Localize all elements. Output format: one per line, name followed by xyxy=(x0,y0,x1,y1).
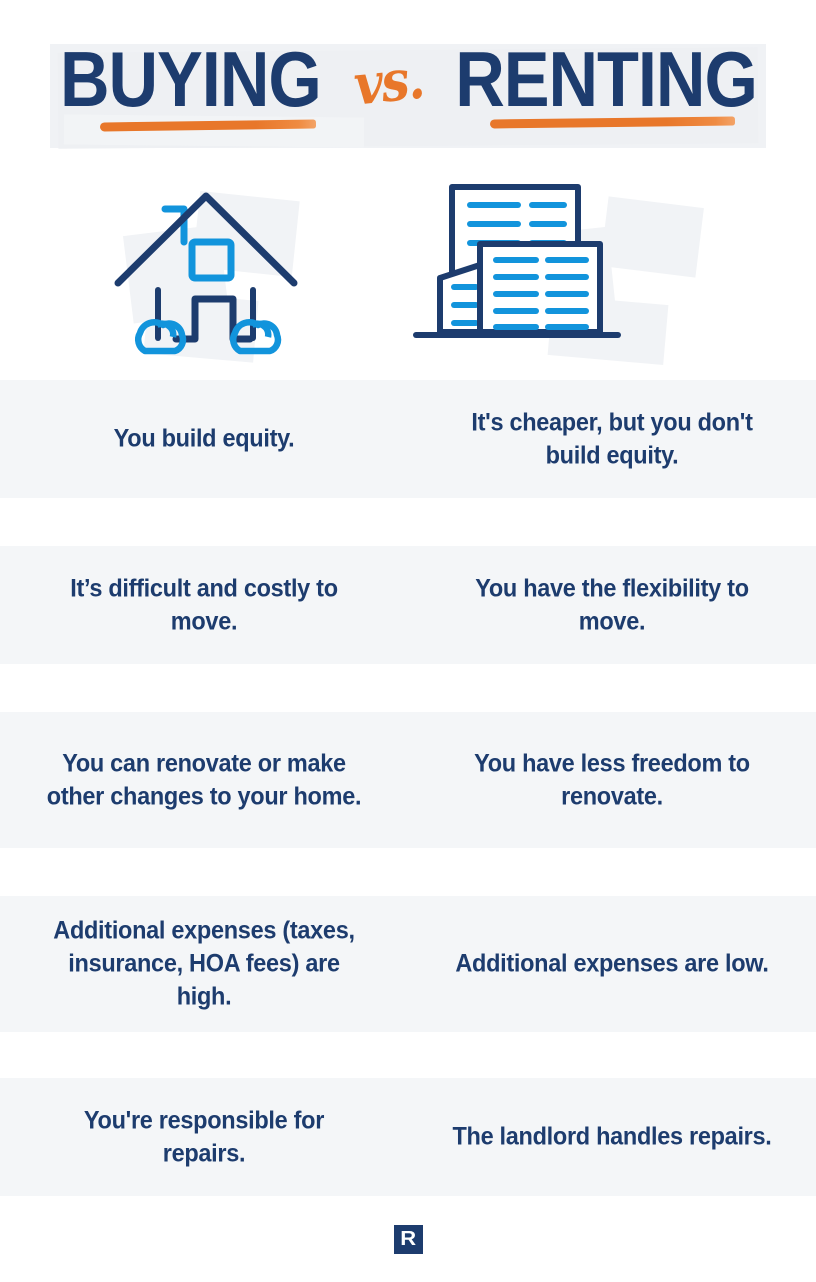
cell-text: You can renovate or make other changes t… xyxy=(44,747,364,813)
footer: R xyxy=(0,1196,816,1282)
row-gap xyxy=(0,664,816,712)
header-banner: BUYING vs. RENTING xyxy=(0,0,816,172)
table-row: It’s difficult and costly to move. You h… xyxy=(0,546,816,664)
table-row: You build equity. It's cheaper, but you … xyxy=(0,380,816,498)
ramsey-logo-letter: R xyxy=(400,1229,416,1249)
title-word-renting: RENTING xyxy=(449,40,763,118)
cell-text: Additional expenses (taxes, insurance, H… xyxy=(44,915,364,1014)
table-row: Additional expenses (taxes, insurance, H… xyxy=(0,896,816,1032)
cell-buying-5: You're responsible for repairs. xyxy=(0,1078,408,1196)
cell-text: You have less freedom to renovate. xyxy=(452,747,772,813)
ramsey-logo: R xyxy=(394,1225,423,1254)
row-gap xyxy=(0,1032,816,1078)
cell-text: You build equity. xyxy=(114,423,295,456)
house-door xyxy=(176,299,250,339)
cell-buying-3: You can renovate or make other changes t… xyxy=(0,712,408,848)
cell-renting-1: It's cheaper, but you don't build equity… xyxy=(408,380,816,498)
cell-buying-2: It’s difficult and costly to move. xyxy=(0,546,408,664)
house-window xyxy=(192,242,231,278)
cell-renting-2: You have the flexibility to move. xyxy=(408,546,816,664)
title-word-buying: BUYING xyxy=(54,40,327,118)
cell-text: Additional expenses are low. xyxy=(455,948,768,981)
cell-text: You have the flexibility to move. xyxy=(452,572,772,638)
cell-renting-5: The landlord handles repairs. xyxy=(408,1078,816,1196)
cell-text: You're responsible for repairs. xyxy=(44,1104,364,1170)
cell-text: The landlord handles repairs. xyxy=(452,1121,771,1154)
cell-buying-1: You build equity. xyxy=(0,380,408,498)
row-gap xyxy=(0,848,816,896)
icons-row xyxy=(0,172,816,380)
cell-renting-4: Additional expenses are low. xyxy=(408,896,816,1032)
apartment-building-icon xyxy=(408,172,816,380)
comparison-table: You build equity. It's cheaper, but you … xyxy=(0,380,816,1196)
page-title: BUYING vs. RENTING xyxy=(0,0,816,172)
house-icon-container xyxy=(0,172,408,380)
table-row: You can renovate or make other changes t… xyxy=(0,712,816,848)
house-icon xyxy=(0,172,408,380)
cell-buying-4: Additional expenses (taxes, insurance, H… xyxy=(0,896,408,1032)
cell-text: It’s difficult and costly to move. xyxy=(44,572,364,638)
apartment-icon-container xyxy=(408,172,816,380)
cell-renting-3: You have less freedom to renovate. xyxy=(408,712,816,848)
row-gap xyxy=(0,498,816,546)
table-row: You're responsible for repairs. The land… xyxy=(0,1078,816,1196)
cell-text: It's cheaper, but you don't build equity… xyxy=(452,406,772,472)
title-vs-script: vs. xyxy=(351,45,426,118)
